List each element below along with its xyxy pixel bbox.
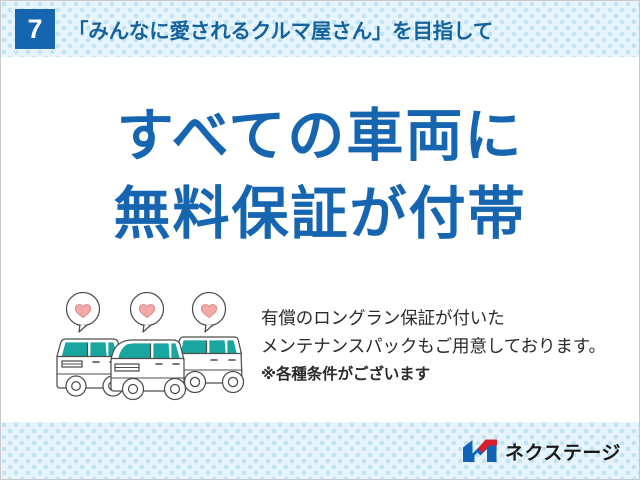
heart-bubble-2 xyxy=(131,293,164,333)
description-text: 有償のロングラン保証が付いた メンテナンスパックもご用意しております。 ※各種条… xyxy=(261,305,639,387)
three-cars-with-heart-bubbles-illustration xyxy=(49,290,249,402)
header: 7 「みんなに愛されるクルマ屋さん」を目指して xyxy=(1,1,493,57)
nextage-n-logo-icon xyxy=(463,438,498,464)
headline-line-2: 無料保証が付帯 xyxy=(1,175,639,253)
description-note: ※各種条件がございます xyxy=(261,362,639,387)
step-number-badge: 7 xyxy=(15,9,55,49)
brand-logo: ネクステージ xyxy=(463,436,621,466)
description-line-1: 有償のロングラン保証が付いた xyxy=(261,305,639,333)
description-line-2: メンテナンスパックもご用意しております。 xyxy=(261,333,639,361)
car-minivan-middle xyxy=(111,340,186,400)
headline-line-1: すべての車両に xyxy=(1,97,639,175)
promo-banner: 7 「みんなに愛されるクルマ屋さん」を目指して すべての車両に 無料保証が付帯 xyxy=(0,0,640,480)
headline: すべての車両に 無料保証が付帯 xyxy=(1,97,639,253)
car-suv-right xyxy=(175,337,244,393)
header-title: 「みんなに愛されるクルマ屋さん」を目指して xyxy=(68,14,493,44)
heart-bubble-1 xyxy=(67,293,100,333)
lower-content: 有償のロングラン保証が付いた メンテナンスパックもご用意しております。 ※各種条… xyxy=(1,286,639,406)
heart-bubble-3 xyxy=(193,293,226,333)
brand-name: ネクステージ xyxy=(505,438,621,465)
